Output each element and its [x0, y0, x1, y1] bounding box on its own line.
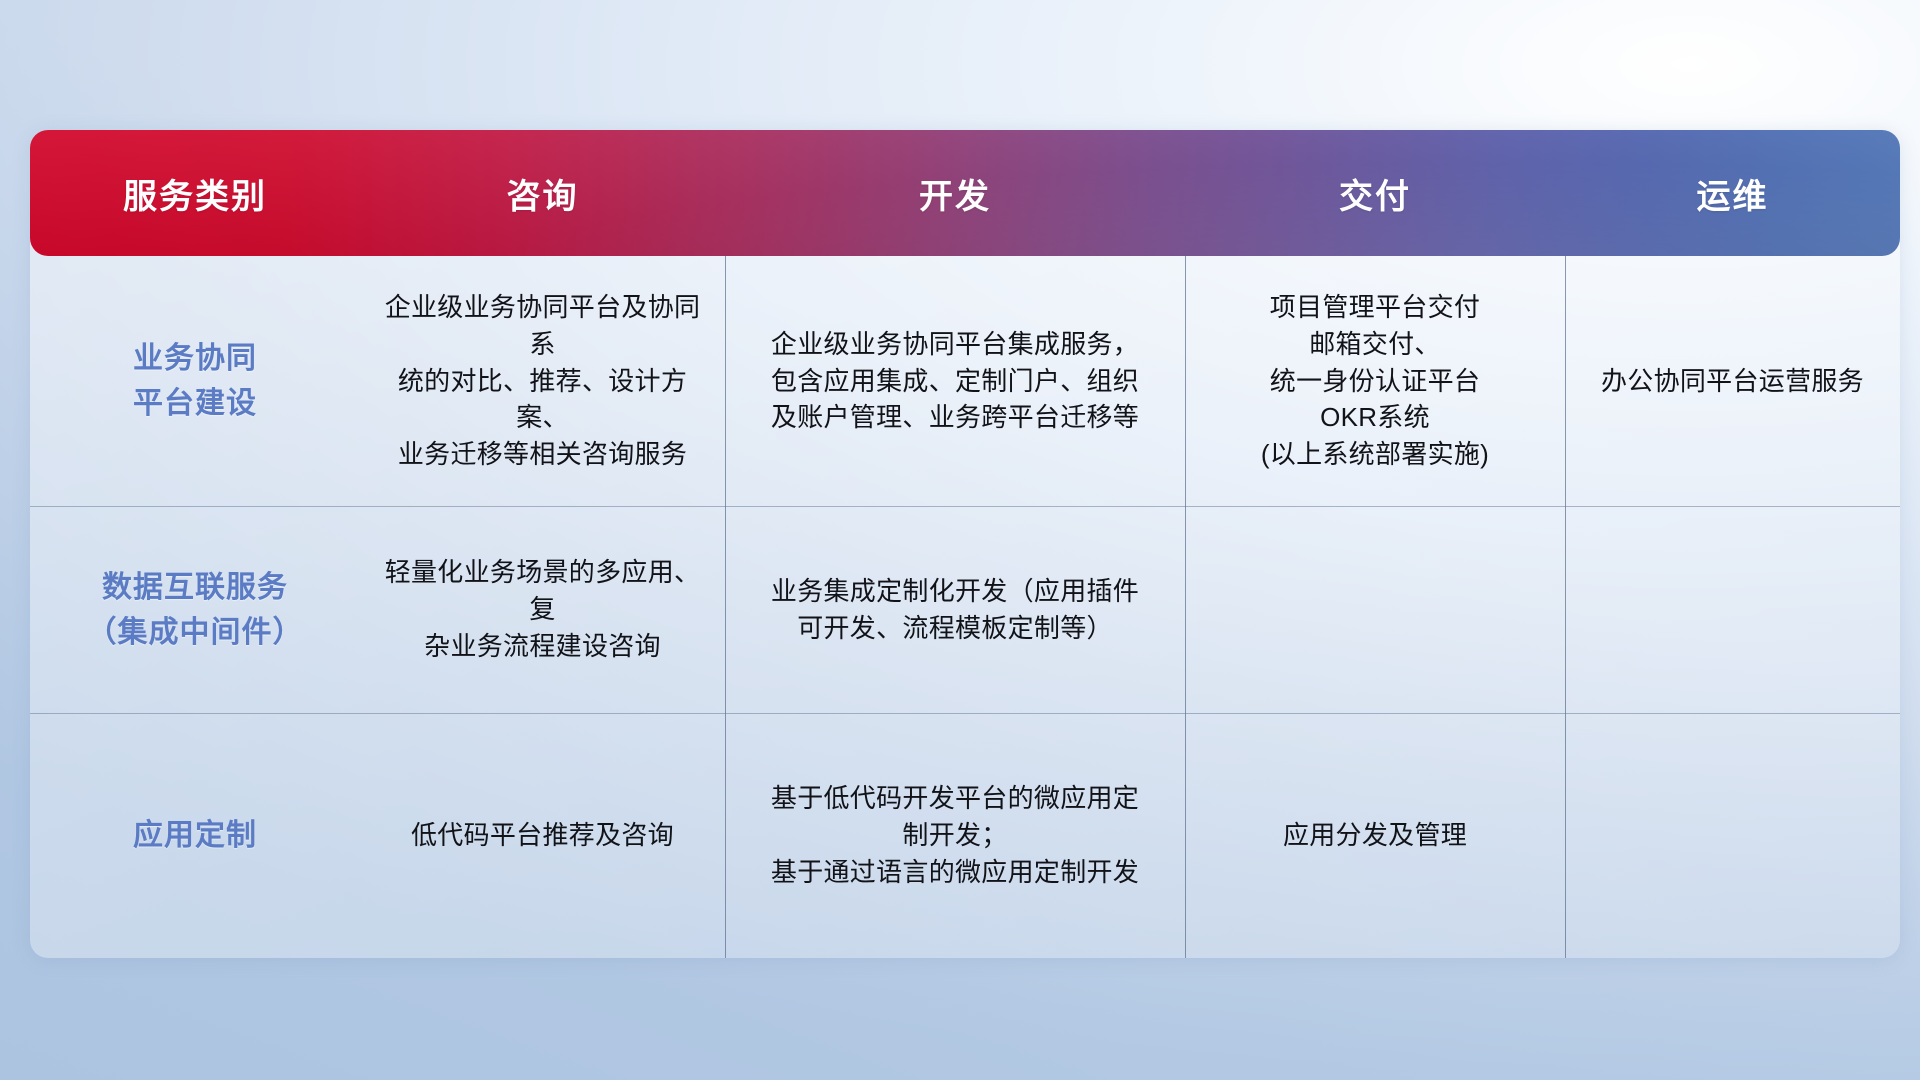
row-label-cell: 数据互联服务（集成中间件）: [30, 506, 360, 713]
column-header-category: 服务类别: [30, 130, 360, 256]
cell-text: 轻量化业务场景的多应用、复杂业务流程建设咨询: [374, 554, 711, 665]
table-row: 数据互联服务（集成中间件） 轻量化业务场景的多应用、复杂业务流程建设咨询 业务集…: [30, 506, 1900, 713]
table-row: 应用定制 低代码平台推荐及咨询 基于低代码开发平台的微应用定制开发；基于通过语言…: [30, 713, 1900, 958]
column-header-operations: 运维: [1565, 130, 1900, 256]
cell-development: 企业级业务协同平台集成服务，包含应用集成、定制门户、组织及账户管理、业务跨平台迁…: [725, 256, 1185, 506]
column-header-development: 开发: [725, 130, 1185, 256]
row-label-cell: 业务协同平台建设: [30, 256, 360, 506]
cell-text: 低代码平台推荐及咨询: [411, 817, 674, 854]
cell-consulting: 轻量化业务场景的多应用、复杂业务流程建设咨询: [360, 506, 725, 713]
row-label-text: 业务协同平台建设: [133, 336, 257, 426]
cell-delivery: 应用分发及管理: [1185, 713, 1565, 958]
cell-development: 基于低代码开发平台的微应用定制开发；基于通过语言的微应用定制开发: [725, 713, 1185, 958]
column-header-consulting: 咨询: [360, 130, 725, 256]
table-header-band: 服务类别 咨询 开发 交付 运维: [30, 130, 1900, 256]
cell-operations: [1565, 506, 1900, 713]
cell-text: 项目管理平台交付邮箱交付、统一身份认证平台OKR系统(以上系统部署实施): [1261, 289, 1489, 474]
cell-operations: 办公协同平台运营服务: [1565, 256, 1900, 506]
cell-consulting: 企业级业务协同平台及协同系统的对比、推荐、设计方案、业务迁移等相关咨询服务: [360, 256, 725, 506]
cell-text: 企业级业务协同平台集成服务，包含应用集成、定制门户、组织及账户管理、业务跨平台迁…: [771, 326, 1139, 437]
cell-text: 基于低代码开发平台的微应用定制开发；基于通过语言的微应用定制开发: [771, 780, 1139, 891]
column-header-delivery: 交付: [1185, 130, 1565, 256]
cell-delivery: [1185, 506, 1565, 713]
cell-text: 业务集成定制化开发（应用插件可开发、流程模板定制等）: [771, 573, 1139, 647]
cell-delivery: 项目管理平台交付邮箱交付、统一身份认证平台OKR系统(以上系统部署实施): [1185, 256, 1565, 506]
table-body: 业务协同平台建设 企业级业务协同平台及协同系统的对比、推荐、设计方案、业务迁移等…: [30, 256, 1900, 958]
cell-text: 应用分发及管理: [1283, 817, 1467, 854]
cell-development: 业务集成定制化开发（应用插件可开发、流程模板定制等）: [725, 506, 1185, 713]
service-matrix-card: 服务类别 咨询 开发 交付 运维 业务协同平台建设 企业级业务协同平台及协同系统…: [30, 130, 1900, 958]
cell-text: 企业级业务协同平台及协同系统的对比、推荐、设计方案、业务迁移等相关咨询服务: [374, 289, 711, 474]
cell-consulting: 低代码平台推荐及咨询: [360, 713, 725, 958]
row-label-cell: 应用定制: [30, 713, 360, 958]
row-label-text: 数据互联服务（集成中间件）: [87, 565, 304, 655]
table-header-row: 服务类别 咨询 开发 交付 运维: [30, 130, 1900, 256]
cell-operations: [1565, 713, 1900, 958]
cell-text: 办公协同平台运营服务: [1601, 363, 1864, 400]
table-row: 业务协同平台建设 企业级业务协同平台及协同系统的对比、推荐、设计方案、业务迁移等…: [30, 256, 1900, 506]
row-label-text: 应用定制: [133, 813, 257, 858]
